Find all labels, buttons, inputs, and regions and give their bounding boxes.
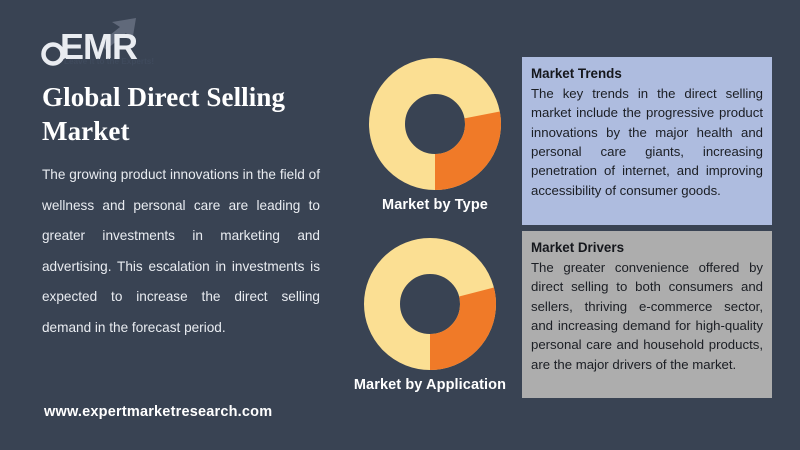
card-market-drivers: Market Drivers The greater convenience o…: [522, 231, 772, 398]
donut-chart-application: [364, 238, 496, 370]
chart-caption: Market by Type: [355, 197, 515, 213]
card-body: The key trends in the direct selling mar…: [531, 84, 763, 200]
card-body: The greater convenience offered by direc…: [531, 258, 763, 374]
card-heading: Market Trends: [531, 64, 763, 83]
chart-market-by-type: Market by Type: [355, 58, 515, 213]
chart-market-by-application: Market by Application: [350, 238, 510, 393]
card-market-trends: Market Trends The key trends in the dire…: [522, 57, 772, 225]
circle-arrow-growth-icon: EMR Leave it to the Experts!: [40, 16, 240, 68]
intro-paragraph: The growing product innovations in the f…: [42, 160, 320, 343]
brand-logo[interactable]: EMR Leave it to the Experts!: [40, 16, 240, 68]
chart-caption: Market by Application: [350, 377, 510, 393]
card-heading: Market Drivers: [531, 238, 763, 257]
donut-chart-type: [369, 58, 501, 190]
infographic-canvas: EMR Leave it to the Experts! Global Dire…: [0, 0, 800, 450]
svg-text:Leave it to the Experts!: Leave it to the Experts!: [64, 57, 154, 66]
page-title: Global Direct Selling Market: [42, 80, 342, 148]
website-url[interactable]: www.expertmarketresearch.com: [44, 404, 272, 420]
